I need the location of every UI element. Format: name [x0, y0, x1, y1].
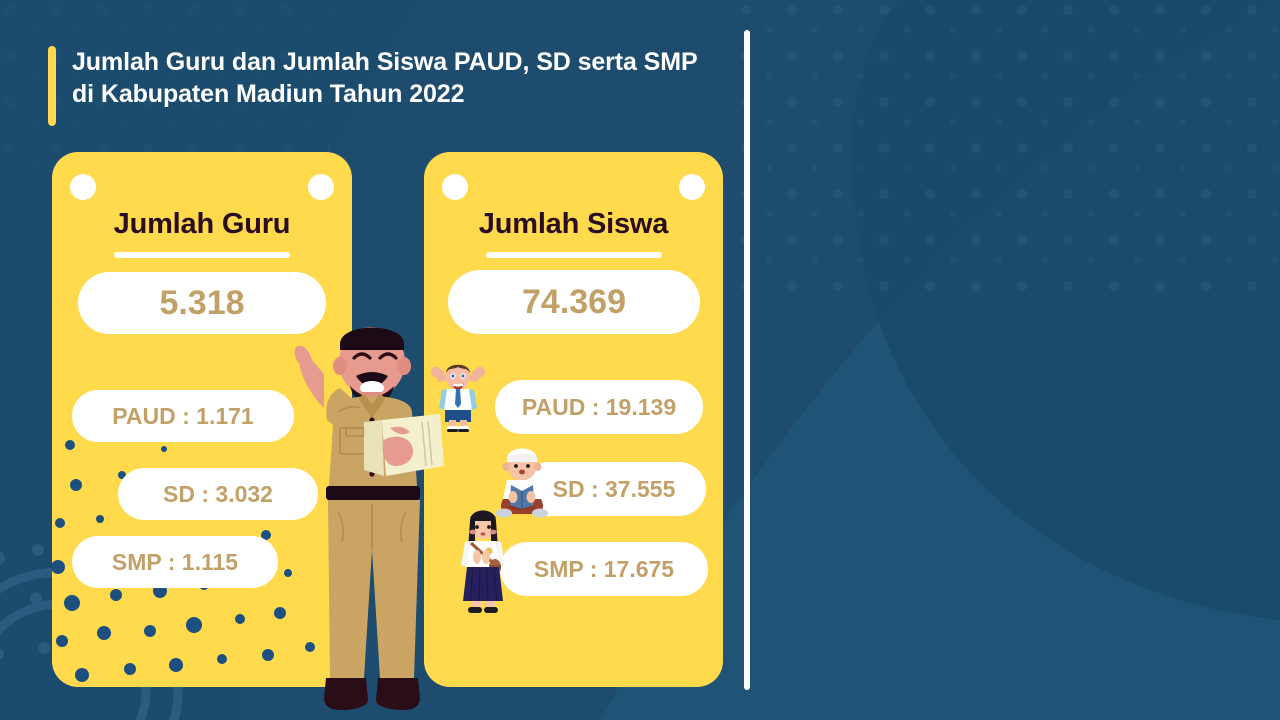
left-panel-heading: Jumlah Guru dan Jumlah Siswa PAUD, SD se…	[48, 46, 708, 126]
card-guru-rule	[114, 252, 290, 258]
card-punch-hole-right	[308, 174, 334, 200]
card-guru-smp-value: SMP : 1.115	[72, 536, 278, 588]
card-siswa-paud-value: PAUD : 19.139	[495, 380, 703, 434]
card-guru-paud-value: PAUD : 1.171	[72, 390, 294, 442]
card-siswa-smp-value: SMP : 17.675	[500, 542, 708, 596]
left-heading-text: Jumlah Guru dan Jumlah Siswa PAUD, SD se…	[72, 46, 708, 110]
card-siswa-title: Jumlah Siswa	[424, 208, 723, 241]
card-punch-hole-right	[679, 174, 705, 200]
card-guru-title: Jumlah Guru	[52, 208, 352, 241]
card-siswa-rule	[486, 252, 662, 258]
card-punch-hole-left	[70, 174, 96, 200]
student-paud-illustration	[427, 358, 489, 432]
right-panel: Jumlah Guru dan Jumlah Siswa jenjang pen…	[745, 0, 1280, 720]
left-panel: Jumlah Guru dan Jumlah Siswa PAUD, SD se…	[0, 0, 745, 720]
student-smp-illustration	[453, 505, 513, 615]
card-punch-hole-left	[442, 174, 468, 200]
card-siswa-total-value: 74.369	[448, 270, 700, 334]
heading-accent-bar	[48, 46, 56, 126]
